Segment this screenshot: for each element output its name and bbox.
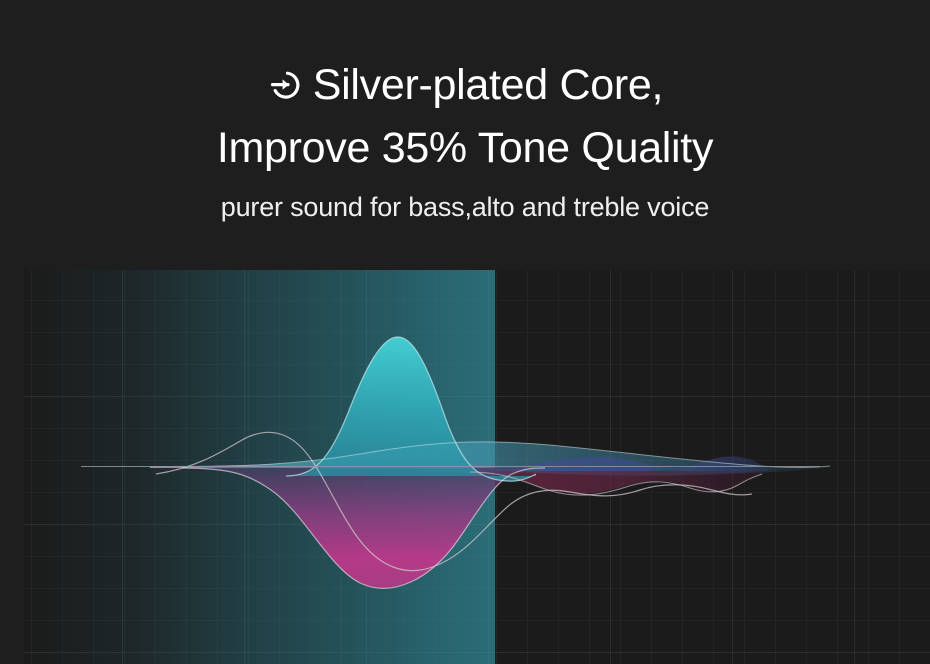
arrow-into-circle-icon: [267, 60, 303, 119]
header-section: Silver-plated Core, Improve 35% Tone Qua…: [0, 0, 930, 268]
headline-text-1: Silver-plated Core,: [313, 61, 663, 109]
waveform-chart: [0, 268, 930, 664]
headline-line-1: Silver-plated Core,: [0, 56, 930, 119]
promo-banner: Silver-plated Core, Improve 35% Tone Qua…: [0, 0, 930, 664]
headline-line-2: Improve 35% Tone Quality: [0, 119, 930, 178]
chart-waveform-curves: [0, 268, 930, 664]
series-alto-lobe: [182, 468, 545, 588]
subheadline: purer sound for bass,alto and treble voi…: [0, 187, 930, 227]
